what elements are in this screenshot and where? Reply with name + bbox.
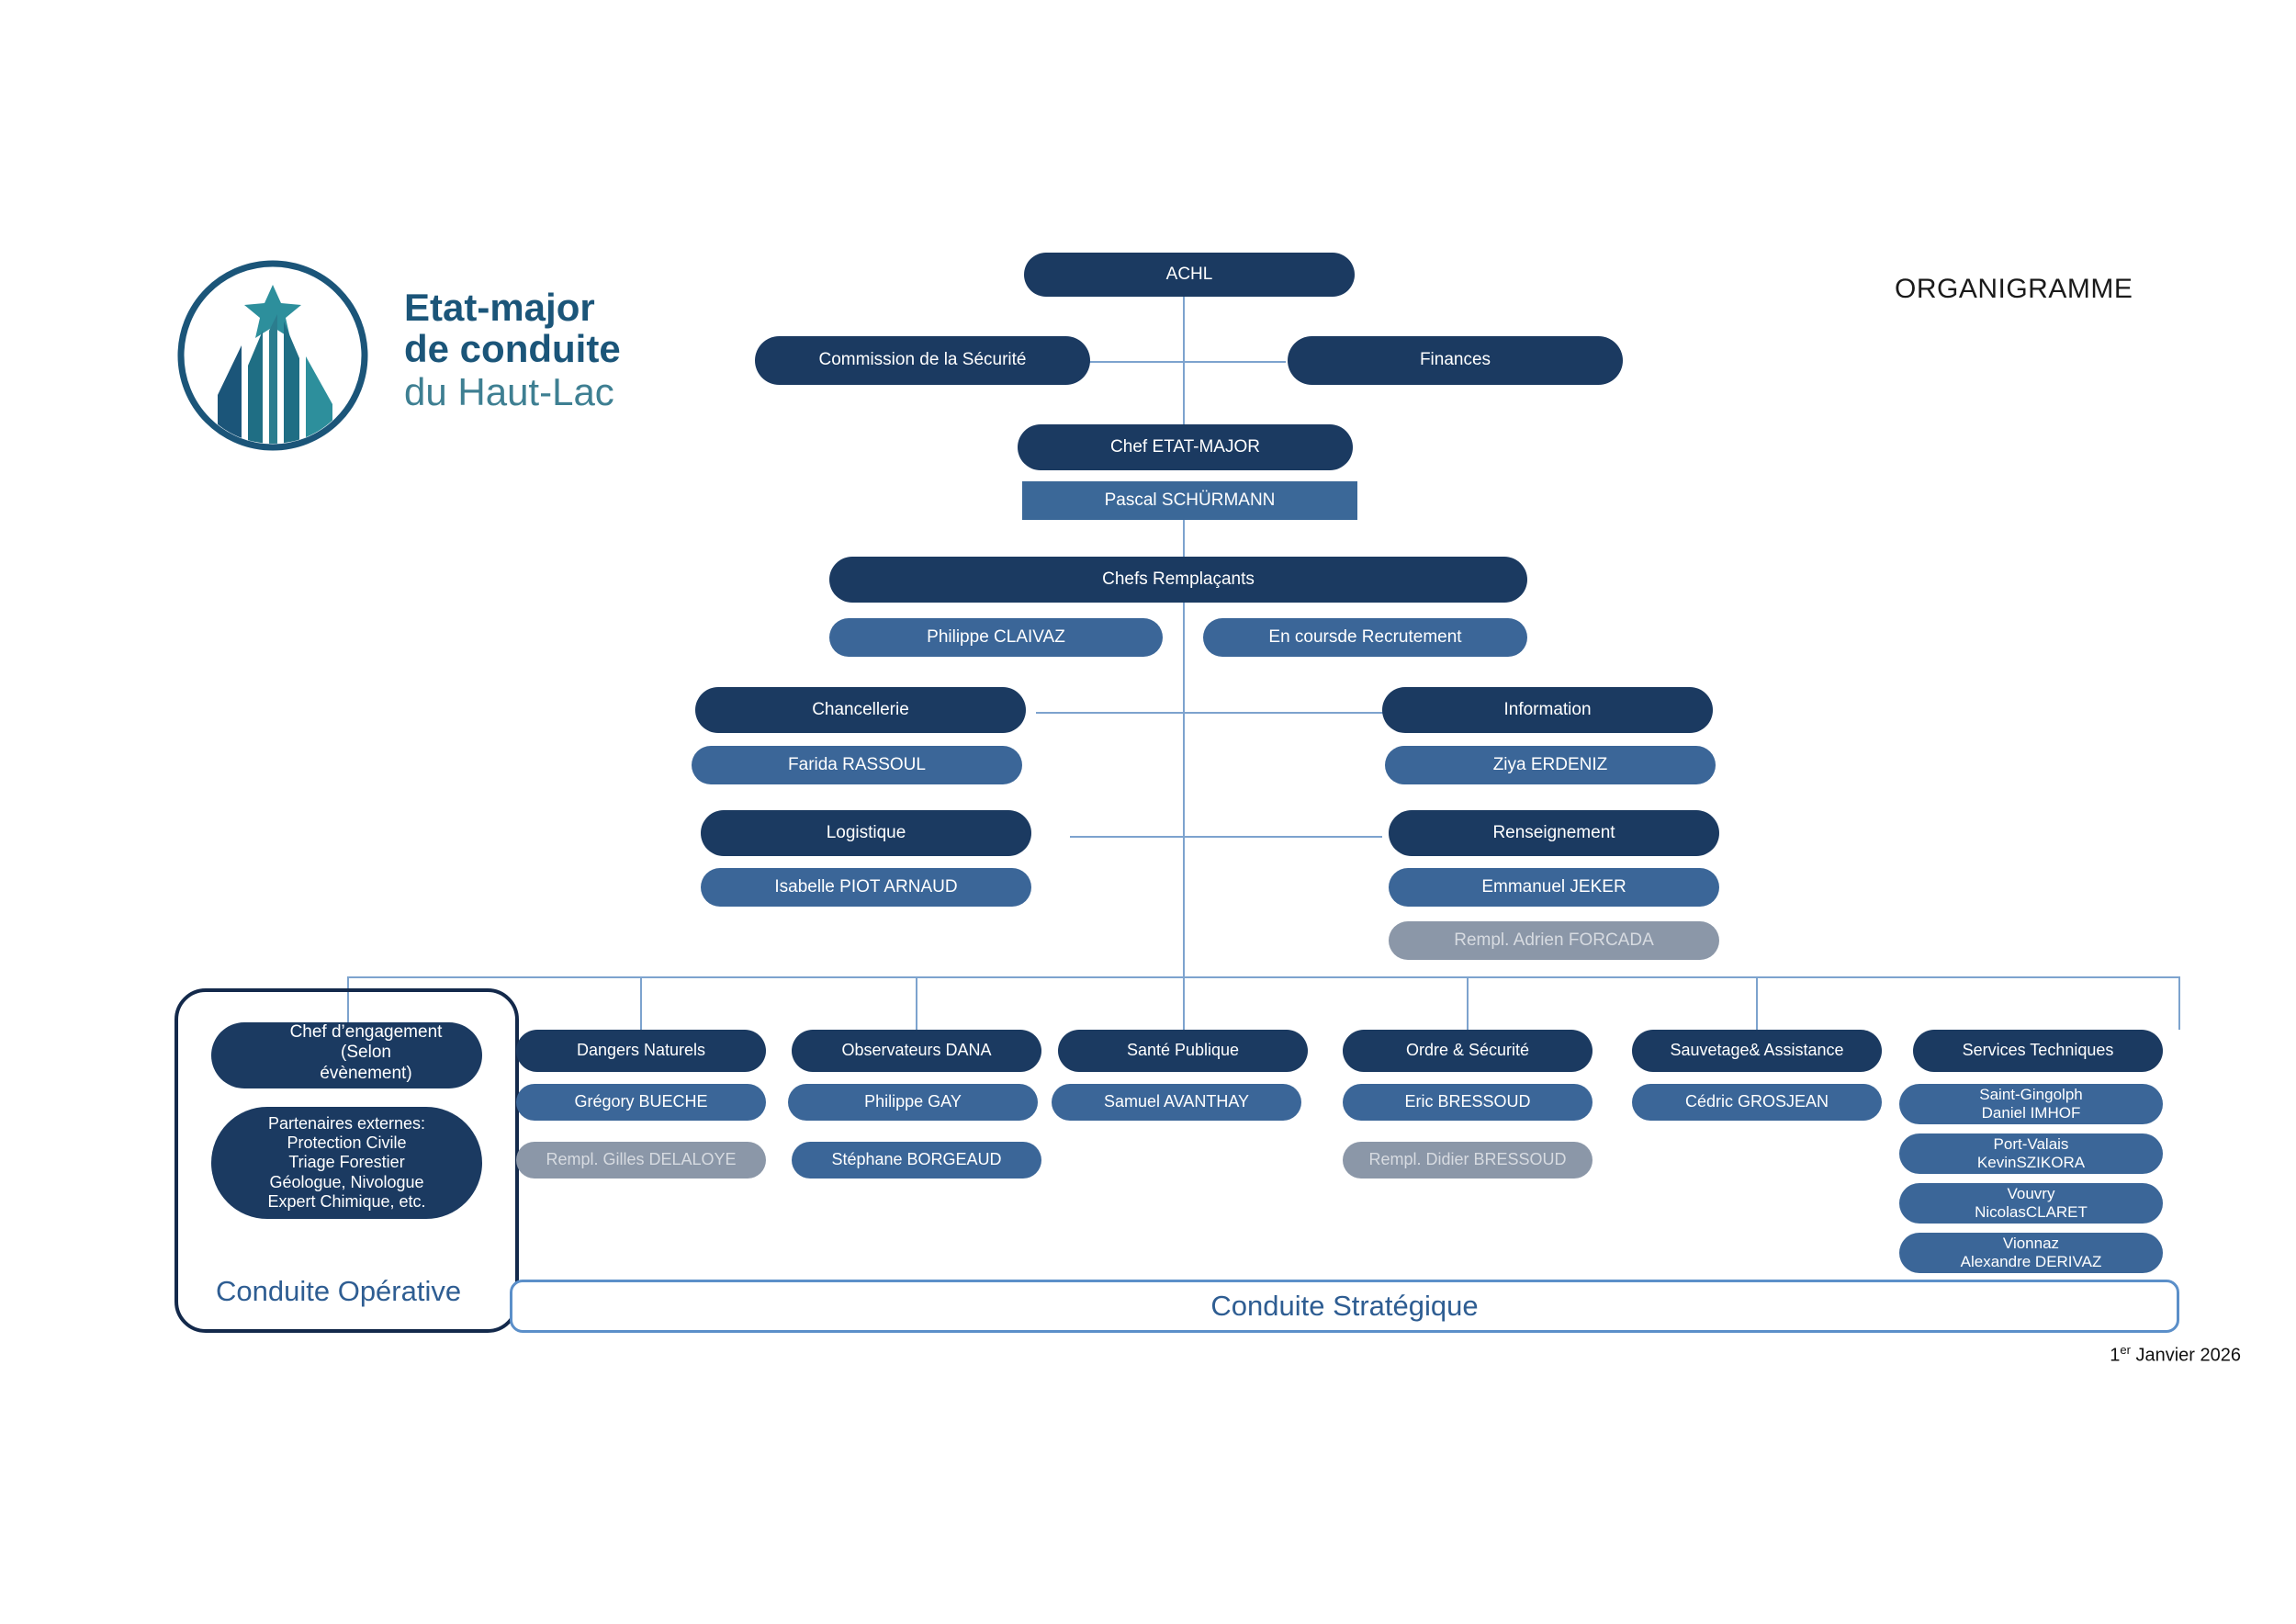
page-title: ORGANIGRAMME [1895, 274, 2133, 305]
node-dangers-naturels-title[interactable]: Dangers Naturels [516, 1030, 766, 1072]
node-chefs-remplacants[interactable]: Chefs Remplaçants [829, 557, 1527, 603]
node-logistique-title[interactable]: Logistique [701, 810, 1031, 856]
date-superscript: er [2120, 1343, 2131, 1357]
commune-name-vouvry: Vouvry [2008, 1185, 2055, 1203]
node-partenaires-externes[interactable]: Partenaires externes: Protection Civile … [211, 1107, 482, 1219]
node-sauvetage-assistance-name[interactable]: Cédric GROSJEAN [1632, 1084, 1882, 1121]
conduite-strategique-label: Conduite Stratégique [1210, 1290, 1478, 1323]
node-observateurs-dana-title[interactable]: Observateurs DANA [792, 1030, 1041, 1072]
connector-drop-services [2178, 976, 2180, 1030]
node-sante-publique-name[interactable]: Samuel AVANTHAY [1052, 1084, 1301, 1121]
commune-person-port-valais: KevinSZIKORA [1977, 1154, 2085, 1172]
partenaires-line-3: Triage Forestier [288, 1153, 404, 1172]
connector-drop-dana [916, 976, 917, 1030]
commune-person-vionnaz: Alexandre DERIVAZ [1961, 1253, 2102, 1271]
chef-engagement-line-3: évènement) [320, 1064, 411, 1084]
node-information-name[interactable]: Ziya ERDENIZ [1385, 746, 1716, 784]
node-observateurs-dana-second[interactable]: Stéphane BORGEAUD [792, 1142, 1041, 1179]
connector-chef-to-remplacants [1183, 519, 1185, 560]
connector-remplacants-split [1183, 600, 1185, 646]
node-chef-etat-major[interactable]: Chef ETAT-MAJOR [1018, 424, 1353, 470]
node-renseignement-name[interactable]: Emmanuel JEKER [1389, 868, 1719, 907]
node-remplacant-1[interactable]: Philippe CLAIVAZ [829, 618, 1163, 657]
node-chef-etat-major-name[interactable]: Pascal SCHÜRMANN [1022, 481, 1357, 520]
commune-person-saint-gingolph: Daniel IMHOF [1982, 1104, 2081, 1122]
commune-name-port-valais: Port-Valais [1994, 1135, 2069, 1154]
date-rest: Janvier 2026 [2131, 1346, 2241, 1366]
node-services-commune-saint-gingolph[interactable]: Saint-Gingolph Daniel IMHOF [1899, 1084, 2163, 1124]
node-services-commune-port-valais[interactable]: Port-Valais KevinSZIKORA [1899, 1133, 2163, 1174]
conduite-strategique-container: Conduite Stratégique [510, 1280, 2179, 1333]
connector-achl-down [1183, 296, 1185, 362]
conduite-operative-label: Conduite Opérative [216, 1275, 461, 1308]
connector-bottom-bus [347, 976, 2179, 978]
node-chancellerie-name[interactable]: Farida RASSOUL [692, 746, 1022, 784]
node-ordre-securite-rempl[interactable]: Rempl. Didier BRESSOUD [1343, 1142, 1593, 1179]
node-services-techniques-title[interactable]: Services Techniques [1913, 1030, 2163, 1072]
connector-drop-dangers [640, 976, 642, 1030]
node-achl[interactable]: ACHL [1024, 253, 1355, 297]
node-sauvetage-assistance-title[interactable]: Sauvetage& Assistance [1632, 1030, 1882, 1072]
logo-line-1: Etat-major [404, 287, 621, 328]
partenaires-line-4: Géologue, Nivologue [269, 1173, 423, 1192]
connector-commission-finances [1088, 361, 1286, 363]
node-commission-securite[interactable]: Commission de la Sécurité [755, 336, 1090, 385]
connector-drop-ordre [1467, 976, 1469, 1030]
connector-central-trunk [1183, 646, 1185, 976]
organigramme-canvas: Etat-major de conduite du Haut-Lac ORGAN… [0, 0, 2296, 1624]
node-dangers-naturels-rempl[interactable]: Rempl. Gilles DELALOYE [516, 1142, 766, 1179]
node-ordre-securite-title[interactable]: Ordre & Sécurité [1343, 1030, 1593, 1072]
node-ordre-securite-name[interactable]: Eric BRESSOUD [1343, 1084, 1593, 1121]
node-renseignement-rempl[interactable]: Rempl. Adrien FORCADA [1389, 921, 1719, 960]
node-observateurs-dana-name[interactable]: Philippe GAY [788, 1084, 1038, 1121]
node-chancellerie-title[interactable]: Chancellerie [695, 687, 1026, 733]
connector-chancellerie-information [1036, 712, 1385, 714]
logo-wordmark: Etat-major de conduite du Haut-Lac [404, 287, 621, 413]
node-information-title[interactable]: Information [1382, 687, 1713, 733]
node-dangers-naturels-name[interactable]: Grégory BUECHE [516, 1084, 766, 1121]
chef-engagement-line-1: Chef d’engagement [290, 1022, 443, 1043]
commune-name-vionnaz: Vionnaz [2003, 1235, 2059, 1253]
partenaires-line-5: Expert Chimique, etc. [267, 1192, 425, 1212]
logo-emblem-icon [174, 257, 372, 455]
connector-down-to-chef [1183, 361, 1185, 428]
connector-logistique-renseignement [1070, 836, 1382, 838]
date-prefix: 1 [2110, 1346, 2120, 1366]
node-sante-publique-title[interactable]: Santé Publique [1058, 1030, 1308, 1072]
logo-line-3: du Haut-Lac [404, 370, 621, 413]
date-stamp: 1er Janvier 2026 [2110, 1343, 2241, 1367]
partenaires-line-2: Protection Civile [287, 1133, 406, 1153]
node-chef-engagement[interactable]: Chef d’engagement (Selon évènement) [211, 1022, 482, 1088]
node-remplacant-2[interactable]: En coursde Recrutement [1203, 618, 1527, 657]
commune-name-saint-gingolph: Saint-Gingolph [1979, 1086, 2082, 1104]
logo-line-2: de conduite [404, 328, 621, 369]
node-services-commune-vionnaz[interactable]: Vionnaz Alexandre DERIVAZ [1899, 1233, 2163, 1273]
connector-drop-sauvetage [1756, 976, 1758, 1030]
chef-engagement-line-2: (Selon [341, 1043, 391, 1063]
node-finances[interactable]: Finances [1288, 336, 1623, 385]
connector-drop-sante [1183, 976, 1185, 1030]
partenaires-line-1: Partenaires externes: [268, 1114, 425, 1133]
commune-person-vouvry: NicolasCLARET [1975, 1203, 2088, 1222]
node-renseignement-title[interactable]: Renseignement [1389, 810, 1719, 856]
node-logistique-name[interactable]: Isabelle PIOT ARNAUD [701, 868, 1031, 907]
node-services-commune-vouvry[interactable]: Vouvry NicolasCLARET [1899, 1183, 2163, 1224]
